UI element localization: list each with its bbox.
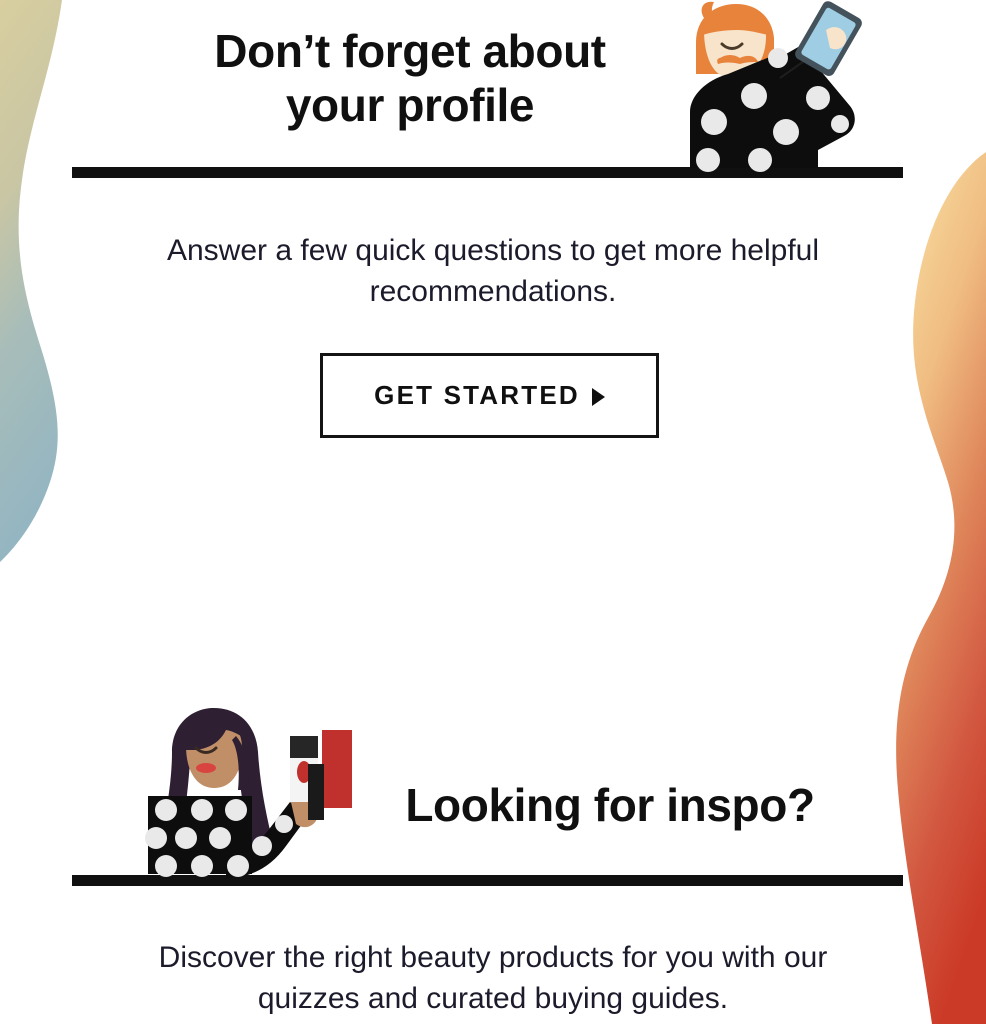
chevron-right-icon (592, 388, 605, 406)
title-line-1: Don’t forget about (120, 24, 700, 78)
section-profile: Don’t forget about your profile (0, 0, 986, 178)
inspo-title: Looking for inspo? (310, 778, 910, 832)
inspo-body-text: Discover the right beauty products for y… (113, 938, 873, 1019)
page-title: Don’t forget about your profile (120, 24, 700, 133)
content-column: Don’t forget about your profile (0, 0, 986, 1024)
promo-page: Don’t forget about your profile (0, 0, 986, 1024)
person-taking-selfie-icon (668, 0, 864, 180)
get-started-button[interactable]: GET STARTED (320, 353, 659, 438)
inspo-title-line: Looking for inspo? (310, 778, 910, 832)
get-started-label: GET STARTED (374, 380, 580, 411)
title-line-2: your profile (120, 78, 700, 132)
profile-body-text: Answer a few quick questions to get more… (143, 231, 843, 312)
woman-holding-makeup-icon (140, 706, 388, 882)
